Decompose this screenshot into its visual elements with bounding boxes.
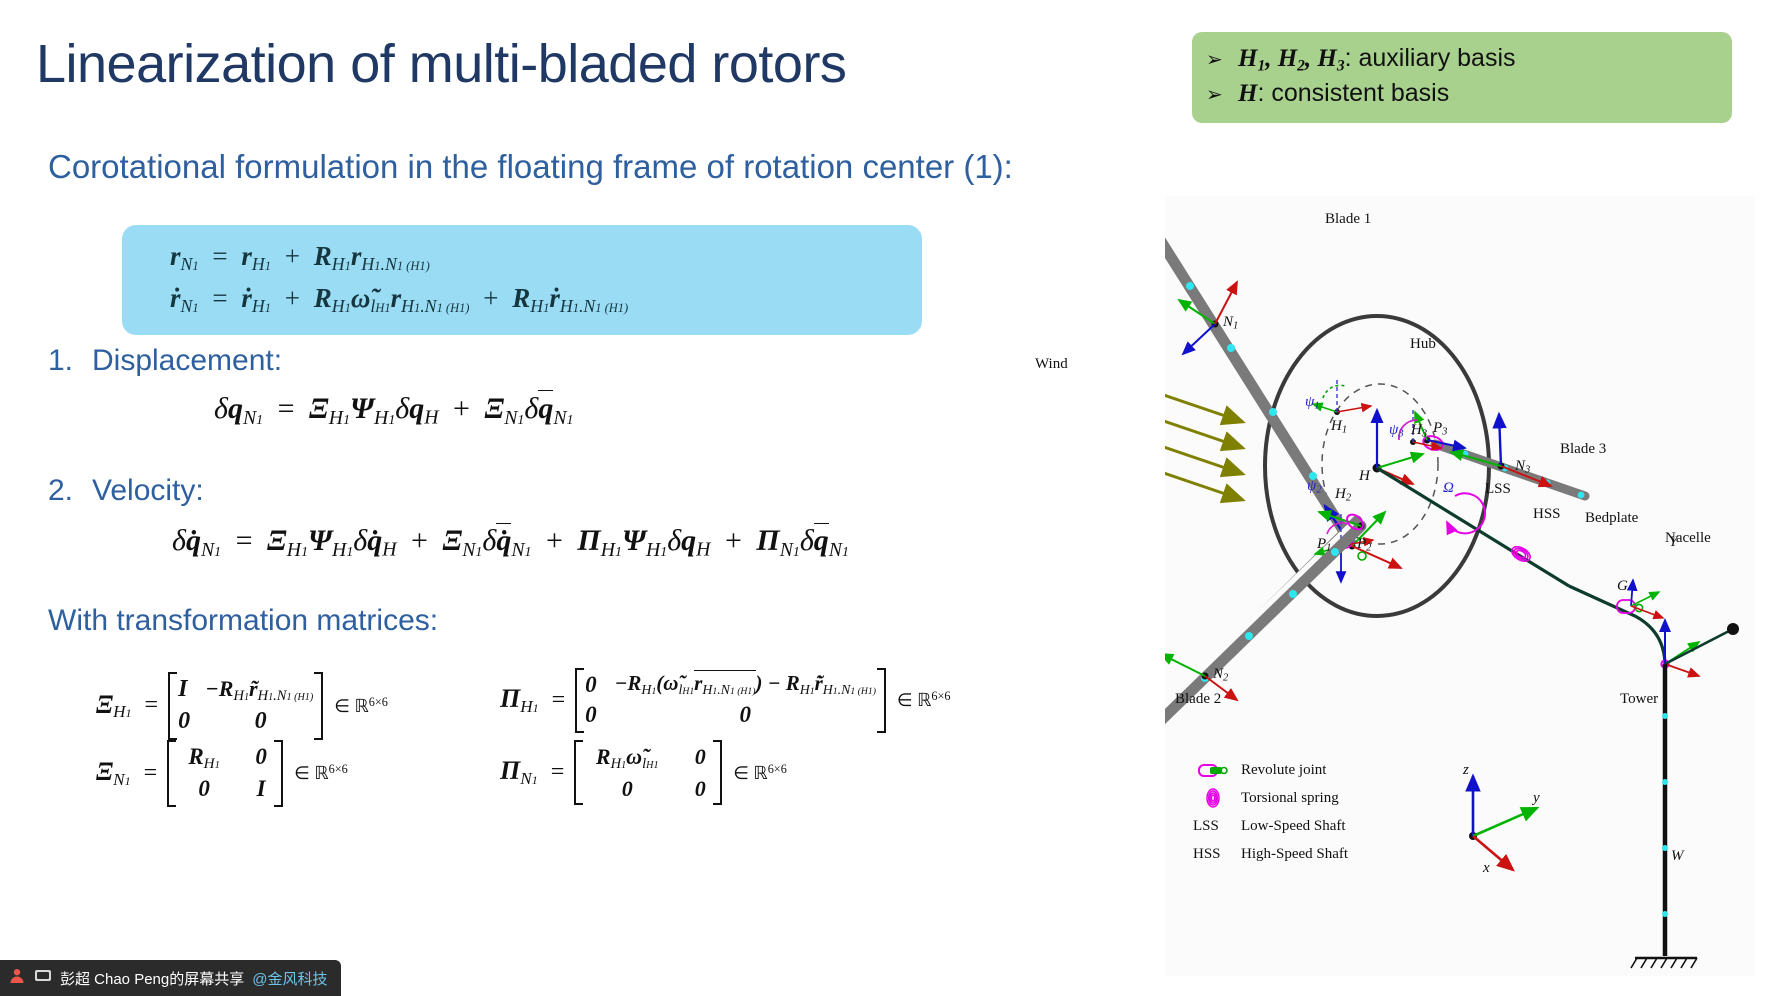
callout-item-2-desc: : consistent basis: [1257, 79, 1449, 107]
figure-label-blade3: Blade 3: [1560, 441, 1606, 458]
share-screen-icon: [34, 967, 52, 990]
figure-label-blade1: Blade 1: [1325, 211, 1371, 228]
figure-axis-label-x: x: [1483, 860, 1490, 877]
screen-share-status-bar[interactable]: 彭超 Chao Peng的屏幕共享 @金风科技: [0, 960, 341, 996]
matrix-cell: 0: [688, 742, 712, 774]
matrix-space-annotation: ∈ ℝ6×6: [733, 762, 787, 784]
matrix-pi-n1: ΠN1 = RH1ω̃lH10 00 ∈ ℝ6×6: [500, 740, 787, 805]
figure-label-wind: Wind: [1035, 356, 1068, 373]
figure-label-p3: P3: [1433, 420, 1447, 438]
slide-canvas: Linearization of multi-bladed rotors ➢ H…: [0, 0, 1768, 996]
legend-key-hss: HSS: [1185, 846, 1241, 863]
figure-label-bedplate: Bedplate: [1585, 510, 1638, 527]
figure-label-y: Y: [1669, 534, 1677, 551]
legend-key-lss: LSS: [1185, 818, 1241, 835]
revolute-joint-icon: [1185, 762, 1241, 778]
legend-callout-box: ➢ H1, H2, H3: auxiliary basis ➢ H: consi…: [1192, 32, 1732, 123]
matrix-bracket: RH1ω̃lH10 00: [574, 740, 722, 805]
matrix-cell: RH1: [177, 742, 231, 774]
figure-legend: Revolute joint Torsional spring LSS Low-…: [1185, 756, 1348, 868]
share-user-icon: [8, 967, 26, 990]
figure-axis-label-z: z: [1463, 762, 1469, 779]
figure-label-n2: N2: [1213, 666, 1228, 684]
matrix-xi-n1: ΞN1 = RH10 0I ∈ ℝ6×6: [96, 740, 348, 807]
list-item-1-number: 1.: [48, 344, 92, 378]
figure-label-p1: P1: [1317, 536, 1331, 554]
figure-label-n1: N1: [1223, 314, 1238, 332]
matrix-cell: −RH1r̃H1.N1 (H1): [205, 674, 313, 706]
matrix-space-annotation: ∈ ℝ6×6: [897, 689, 951, 711]
legend-row-revolute-joint: Revolute joint: [1185, 756, 1348, 784]
legend-row-lss: LSS Low-Speed Shaft: [1185, 812, 1348, 840]
wind-turbine-diagram: Blade 1 Blade 2 Blade 3 Hub Wind Nacelle…: [1165, 196, 1755, 976]
callout-item-2-text: H: consistent basis: [1238, 77, 1449, 111]
callout-item-1-text: H1, H2, H3: auxiliary basis: [1238, 42, 1516, 77]
equation-displacement: δqN1 = ΞH1ΨH1δqH + ΞN1δqN1: [214, 392, 573, 430]
matrix-cell: −RH1(ω̃lH1rH1.N1 (H1)) − RH1r̃̇H1.N1 (H1…: [615, 670, 876, 700]
matrix-cell: 0: [249, 742, 273, 774]
legend-row-torsional-spring: Torsional spring: [1185, 784, 1348, 812]
matrix-pi-h1: ΠH1 = 0−RH1(ω̃lH1rH1.N1 (H1)) − RH1r̃̇H1…: [500, 668, 951, 733]
matrix-cell: 0: [585, 700, 597, 730]
figure-label-g: G: [1617, 578, 1628, 595]
equation-velocity: δq̇N1 = ΞH1ΨH1δq̇H + ΞN1δq̇N1 + ΠH1ΨH1δq…: [172, 524, 849, 562]
legend-label: Torsional spring: [1241, 790, 1339, 807]
legend-label: Revolute joint: [1241, 762, 1326, 779]
bullet-arrow-icon: ➢: [1206, 82, 1224, 109]
list-item-velocity: 2.Velocity:: [48, 474, 204, 508]
callout-item-2: ➢ H: consistent basis: [1206, 77, 1718, 111]
figure-label-hub: Hub: [1410, 336, 1436, 353]
matrix-cell: 0: [584, 774, 670, 803]
figure-label-w: W: [1671, 848, 1684, 865]
figure-label-p2: P2: [1357, 536, 1371, 554]
figure-label-psi1: ψ1: [1305, 394, 1320, 412]
legend-label: Low-Speed Shaft: [1241, 818, 1346, 835]
callout-item-1-desc: : auxiliary basis: [1345, 44, 1516, 72]
equation-position: rN1 = rH1 + RH1rH1.N1 (H1): [170, 241, 430, 275]
matrix-cell: 0: [688, 774, 712, 803]
matrix-cell: 0: [615, 700, 876, 730]
page-title: Linearization of multi-bladed rotors: [36, 36, 846, 93]
matrix-cell: I: [178, 674, 187, 706]
figure-label-blade2: Blade 2: [1175, 691, 1221, 708]
figure-label-lss: LSS: [1485, 481, 1511, 498]
matrix-bracket: I−RH1r̃H1.N1 (H1) 00: [168, 672, 323, 740]
callout-item-1: ➢ H1, H2, H3: auxiliary basis: [1206, 42, 1718, 77]
matrix-xi-h1: ΞH1 = I−RH1r̃H1.N1 (H1) 00 ∈ ℝ6×6: [96, 672, 388, 740]
equation-velocity-corotational: ṙN1 = ṙH1 + RH1ω̃lH1rH1.N1 (H1) + RH1ṙH1…: [170, 283, 628, 317]
legend-row-hss: HSS High-Speed Shaft: [1185, 840, 1348, 868]
matrix-cell: 0: [585, 670, 597, 700]
list-item-2-label: Velocity:: [92, 474, 204, 507]
matrix-cell: 0: [177, 774, 231, 804]
equation-highlight-box: rN1 = rH1 + RH1rH1.N1 (H1) ṙN1 = ṙH1 + R…: [122, 225, 922, 335]
matrix-space-annotation: ∈ ℝ6×6: [334, 695, 388, 717]
list-item-1-label: Displacement:: [92, 344, 282, 377]
figure-label-h3: H3: [1411, 422, 1427, 440]
section-subheading: Corotational formulation in the floating…: [48, 148, 1013, 186]
list-item-2-number: 2.: [48, 474, 92, 508]
figure-label-omega: Ω: [1443, 480, 1454, 497]
figure-label-hss: HSS: [1533, 506, 1561, 523]
matrix-bracket: RH10 0I: [167, 740, 283, 807]
matrix-cell: 0: [208, 706, 313, 738]
transformation-matrices-heading: With transformation matrices:: [48, 604, 438, 638]
matrix-cell: I: [249, 774, 273, 804]
matrix-cell: RH1ω̃lH1: [584, 742, 670, 774]
matrix-bracket: 0−RH1(ω̃lH1rH1.N1 (H1)) − RH1r̃̇H1.N1 (H…: [575, 668, 886, 733]
matrix-space-annotation: ∈ ℝ6×6: [294, 762, 348, 784]
matrix-cell: 0: [178, 706, 190, 738]
figure-label-tower: Tower: [1620, 691, 1658, 708]
figure-label-psi3: ψ3: [1389, 422, 1404, 440]
legend-label: High-Speed Shaft: [1241, 846, 1348, 863]
list-item-displacement: 1.Displacement:: [48, 344, 282, 378]
figure-label-psi2: ψ2: [1307, 478, 1322, 496]
figure-axis-label-y: y: [1533, 790, 1540, 807]
figure-label-n3: N3: [1515, 458, 1530, 476]
figure-label-h1: H1: [1331, 418, 1347, 436]
bullet-arrow-icon: ➢: [1206, 47, 1224, 74]
figure-label-h2: H2: [1335, 486, 1351, 504]
figure-label-h: H: [1359, 468, 1370, 485]
torsional-spring-icon: [1185, 788, 1241, 808]
share-presenter-name: 彭超 Chao Peng的屏幕共享: [60, 968, 244, 989]
share-org-name: @金风科技: [252, 968, 327, 989]
